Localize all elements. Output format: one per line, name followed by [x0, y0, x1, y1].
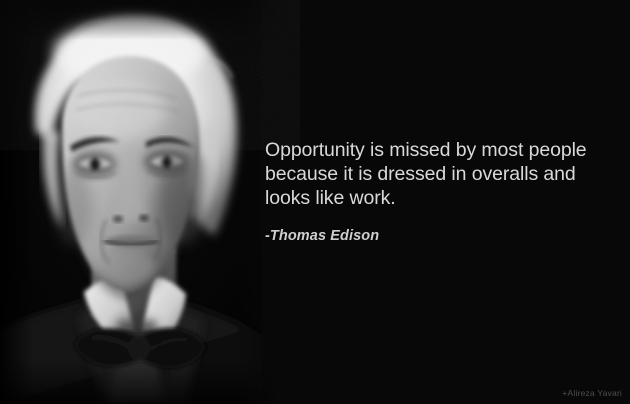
forehead-highlight [74, 80, 166, 140]
quote-image-canvas: Opportunity is missed by most people bec… [0, 0, 630, 404]
watermark-credit: +Alireza Yavari [562, 388, 622, 398]
quote-line-1: Opportunity is missed by most people [265, 138, 585, 162]
nostril-left [113, 216, 123, 223]
chin-highlight [104, 252, 156, 284]
nostril-right [139, 215, 149, 222]
quote-attribution: -Thomas Edison [265, 228, 585, 244]
quote-line-2: because it is dressed in overalls and [265, 162, 585, 186]
portrait-photo [0, 0, 262, 404]
edison-portrait [0, 0, 262, 404]
quote-line-3: looks like work. [265, 186, 585, 210]
cheek-shadow-left [56, 166, 92, 246]
quote-block: Opportunity is missed by most people bec… [265, 138, 585, 244]
